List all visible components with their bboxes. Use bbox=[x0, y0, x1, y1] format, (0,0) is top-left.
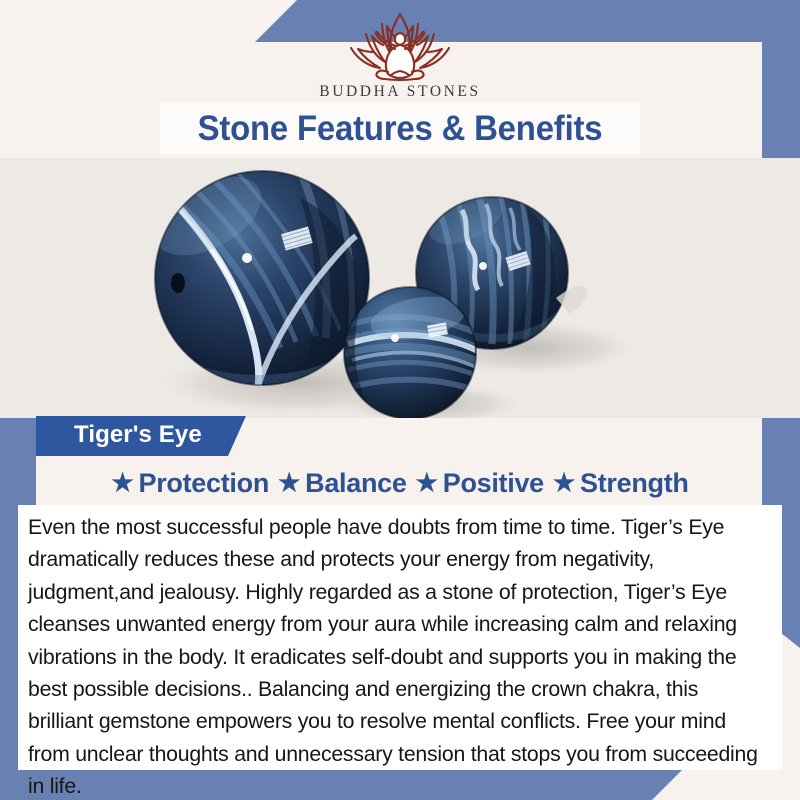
star-icon: ★ bbox=[553, 471, 575, 496]
star-icon: ★ bbox=[111, 471, 133, 496]
benefits-list: ★ Protection ★ Balance ★ Positive ★ Stre… bbox=[0, 462, 800, 504]
stone-name-label: Tiger's Eye bbox=[36, 421, 236, 451]
benefit-item-balance: ★ Balance bbox=[278, 468, 416, 499]
benefit-label: Protection bbox=[139, 468, 279, 499]
stone-benefits-poster: BUDDHA STONES Stone Features & Benefits bbox=[0, 0, 800, 800]
star-icon: ★ bbox=[416, 471, 438, 496]
stone-photo bbox=[0, 158, 800, 418]
benefit-label: Balance bbox=[305, 468, 415, 499]
description-panel: Even the most successful people have dou… bbox=[18, 505, 782, 770]
benefit-label: Positive bbox=[443, 468, 553, 499]
lotus-meditation-icon bbox=[325, 10, 475, 82]
description-text: Even the most successful people have dou… bbox=[28, 511, 761, 800]
stone-name-ribbon: Tiger's Eye bbox=[36, 416, 246, 456]
benefit-label: Strength bbox=[580, 468, 689, 499]
page-title: Stone Features & Benefits bbox=[24, 103, 776, 154]
brand-name: BUDDHA STONES bbox=[319, 83, 480, 101]
brand-logo: BUDDHA STONES bbox=[0, 10, 800, 101]
benefit-item-strength: ★ Strength bbox=[553, 468, 689, 499]
benefit-item-positive: ★ Positive bbox=[416, 468, 553, 499]
star-icon: ★ bbox=[278, 471, 300, 496]
benefit-item-protection: ★ Protection bbox=[111, 468, 278, 499]
